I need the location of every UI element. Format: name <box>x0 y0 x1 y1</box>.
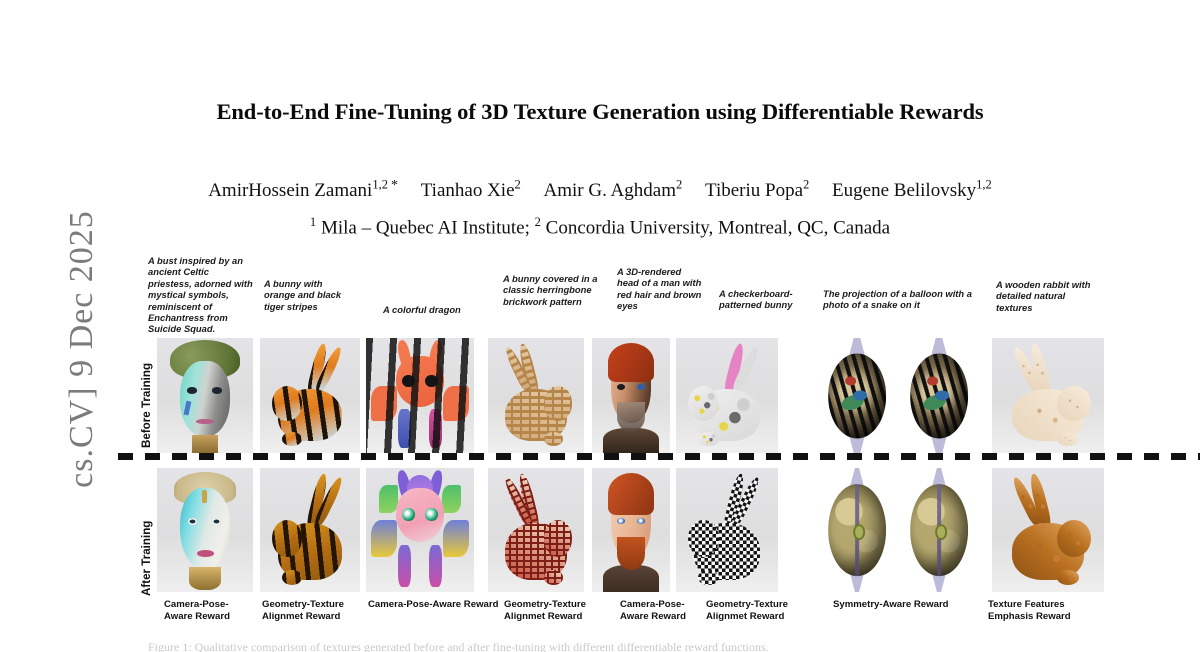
reward-label-geometry-texture-1: Geometry-Texture Alignmet Reward <box>262 599 362 622</box>
cell-artwork-tiger-bunny-after <box>260 468 360 592</box>
author-list: AmirHossein Zamani1,2* Tianhao Xie2 Amir… <box>0 178 1200 202</box>
author-affiliation-marker: 1,2 <box>372 178 388 192</box>
author-entry: Tianhao Xie2 <box>421 180 521 201</box>
prompt-celtic-bust: A bust inspired by an ancient Celtic pri… <box>148 255 254 335</box>
author-entry: AmirHossein Zamani1,2* <box>208 180 398 201</box>
author-affiliation-marker: 2 <box>676 178 682 192</box>
figure-cell-after-tiger-bunny <box>260 468 360 592</box>
cell-artwork-wooden-rabbit-before <box>992 338 1104 453</box>
author-affiliation-marker: 2 <box>515 178 521 192</box>
reward-label-geometry-texture-3: Geometry-Texture Alignmet Reward <box>706 599 806 622</box>
figure-cell-after-brickwork-bunny <box>488 468 584 592</box>
reward-label-symmetry-aware: Symmetry-Aware Reward <box>833 599 983 611</box>
figure-cell-before-snake-balloon-left <box>818 338 896 453</box>
cell-artwork-colorful-dragon-after <box>366 468 474 592</box>
author-entry: Tiberiu Popa2 <box>705 180 809 201</box>
reward-label-geometry-texture-2: Geometry-Texture Alignmet Reward <box>504 599 604 622</box>
affiliation-2: Concordia University, Montreal, QC, Cana… <box>541 217 890 238</box>
figure-caption: Figure 1: Qualitative comparison of text… <box>148 640 1158 652</box>
figure-cell-before-snake-balloon-right <box>900 338 978 453</box>
figure-cell-after-red-haired-man <box>592 468 670 592</box>
figure-cell-after-snake-balloon-left <box>818 468 896 592</box>
teaser-figure: A bust inspired by an ancient Celtic pri… <box>0 248 1200 648</box>
cell-artwork-checkerboard-bunny-before <box>676 338 778 453</box>
cell-artwork-celtic-bust-after <box>157 468 253 592</box>
figure-cell-after-checkerboard-bunny <box>676 468 778 592</box>
author-entry: Eugene Belilovsky1,2 <box>832 180 992 201</box>
corresponding-author-asterisk: * <box>391 178 398 193</box>
row-label-before-training: Before Training <box>140 363 153 448</box>
prompt-snake-balloon: The projection of a balloon with a photo… <box>823 288 975 311</box>
figure-cell-after-snake-balloon-right <box>900 468 978 592</box>
cell-artwork-checkerboard-bunny-after <box>676 468 778 592</box>
author-name: Amir G. Aghdam <box>544 180 676 201</box>
author-affiliation-marker: 2 <box>803 178 809 192</box>
figure-cell-before-brickwork-bunny <box>488 338 584 453</box>
figure-cell-after-celtic-bust <box>157 468 253 592</box>
cell-artwork-brickwork-bunny-after <box>488 468 584 592</box>
cell-artwork-snake-balloon-right-after <box>900 468 978 592</box>
paper-preview-page: cs.CV] 9 Dec 2025 End-to-End Fine-Tuning… <box>0 0 1200 648</box>
affiliation-1: Mila – Quebec AI Institute; <box>316 217 534 238</box>
prompt-checkerboard-bunny: A checkerboard-patterned bunny <box>719 288 811 311</box>
row-label-after-training: After Training <box>140 521 153 596</box>
figure-cell-after-colorful-dragon <box>366 468 474 592</box>
cell-artwork-red-haired-man-after <box>592 468 670 592</box>
author-name: AmirHossein Zamani <box>208 180 372 201</box>
author-entry: Amir G. Aghdam2 <box>544 180 683 201</box>
author-name: Tianhao Xie <box>421 180 515 201</box>
figure-cell-after-wooden-rabbit <box>992 468 1104 592</box>
author-name: Eugene Belilovsky <box>832 180 976 201</box>
figure-cell-before-tiger-bunny <box>260 338 360 453</box>
prompt-wooden-rabbit: A wooden rabbit with detailed natural te… <box>996 279 1104 313</box>
cell-artwork-snake-balloon-right-before <box>900 338 978 453</box>
cell-artwork-colorful-dragon-before <box>366 338 474 453</box>
reward-label-camera-pose-aware-1: Camera-Pose-Aware Reward <box>164 599 256 622</box>
cell-artwork-snake-balloon-left-before <box>818 338 896 453</box>
prompt-brickwork-bunny: A bunny covered in a classic herringbone… <box>503 273 607 307</box>
cell-artwork-wooden-rabbit-after <box>992 468 1104 592</box>
before-after-divider <box>118 453 1200 460</box>
cell-artwork-brickwork-bunny-before <box>488 338 584 453</box>
prompt-colorful-dragon: A colorful dragon <box>383 304 493 315</box>
cell-artwork-red-haired-man-before <box>592 338 670 453</box>
reward-label-camera-pose-aware-3: Camera-Pose-Aware Reward <box>620 599 698 622</box>
author-affiliation-marker: 1,2 <box>976 178 992 192</box>
affiliation-line: 1 Mila – Quebec AI Institute; 2 Concordi… <box>0 215 1200 239</box>
reward-label-camera-pose-aware-2: Camera-Pose-Aware Reward <box>368 599 518 611</box>
figure-cell-before-wooden-rabbit <box>992 338 1104 453</box>
prompt-red-haired-man: A 3D-rendered head of a man with red hai… <box>617 266 703 312</box>
figure-cell-before-celtic-bust <box>157 338 253 453</box>
reward-label-texture-features: Texture Features Emphasis Reward <box>988 599 1092 622</box>
page-title: End-to-End Fine-Tuning of 3D Texture Gen… <box>0 99 1200 125</box>
figure-cell-before-colorful-dragon <box>366 338 474 453</box>
figure-cell-before-red-haired-man <box>592 338 670 453</box>
figure-cell-before-checkerboard-bunny <box>676 338 778 453</box>
cell-artwork-tiger-bunny-before <box>260 338 360 453</box>
author-name: Tiberiu Popa <box>705 180 803 201</box>
prompt-tiger-bunny: A bunny with orange and black tiger stri… <box>264 278 356 312</box>
cell-artwork-celtic-bust-before <box>157 338 253 453</box>
cell-artwork-snake-balloon-left-after <box>818 468 896 592</box>
